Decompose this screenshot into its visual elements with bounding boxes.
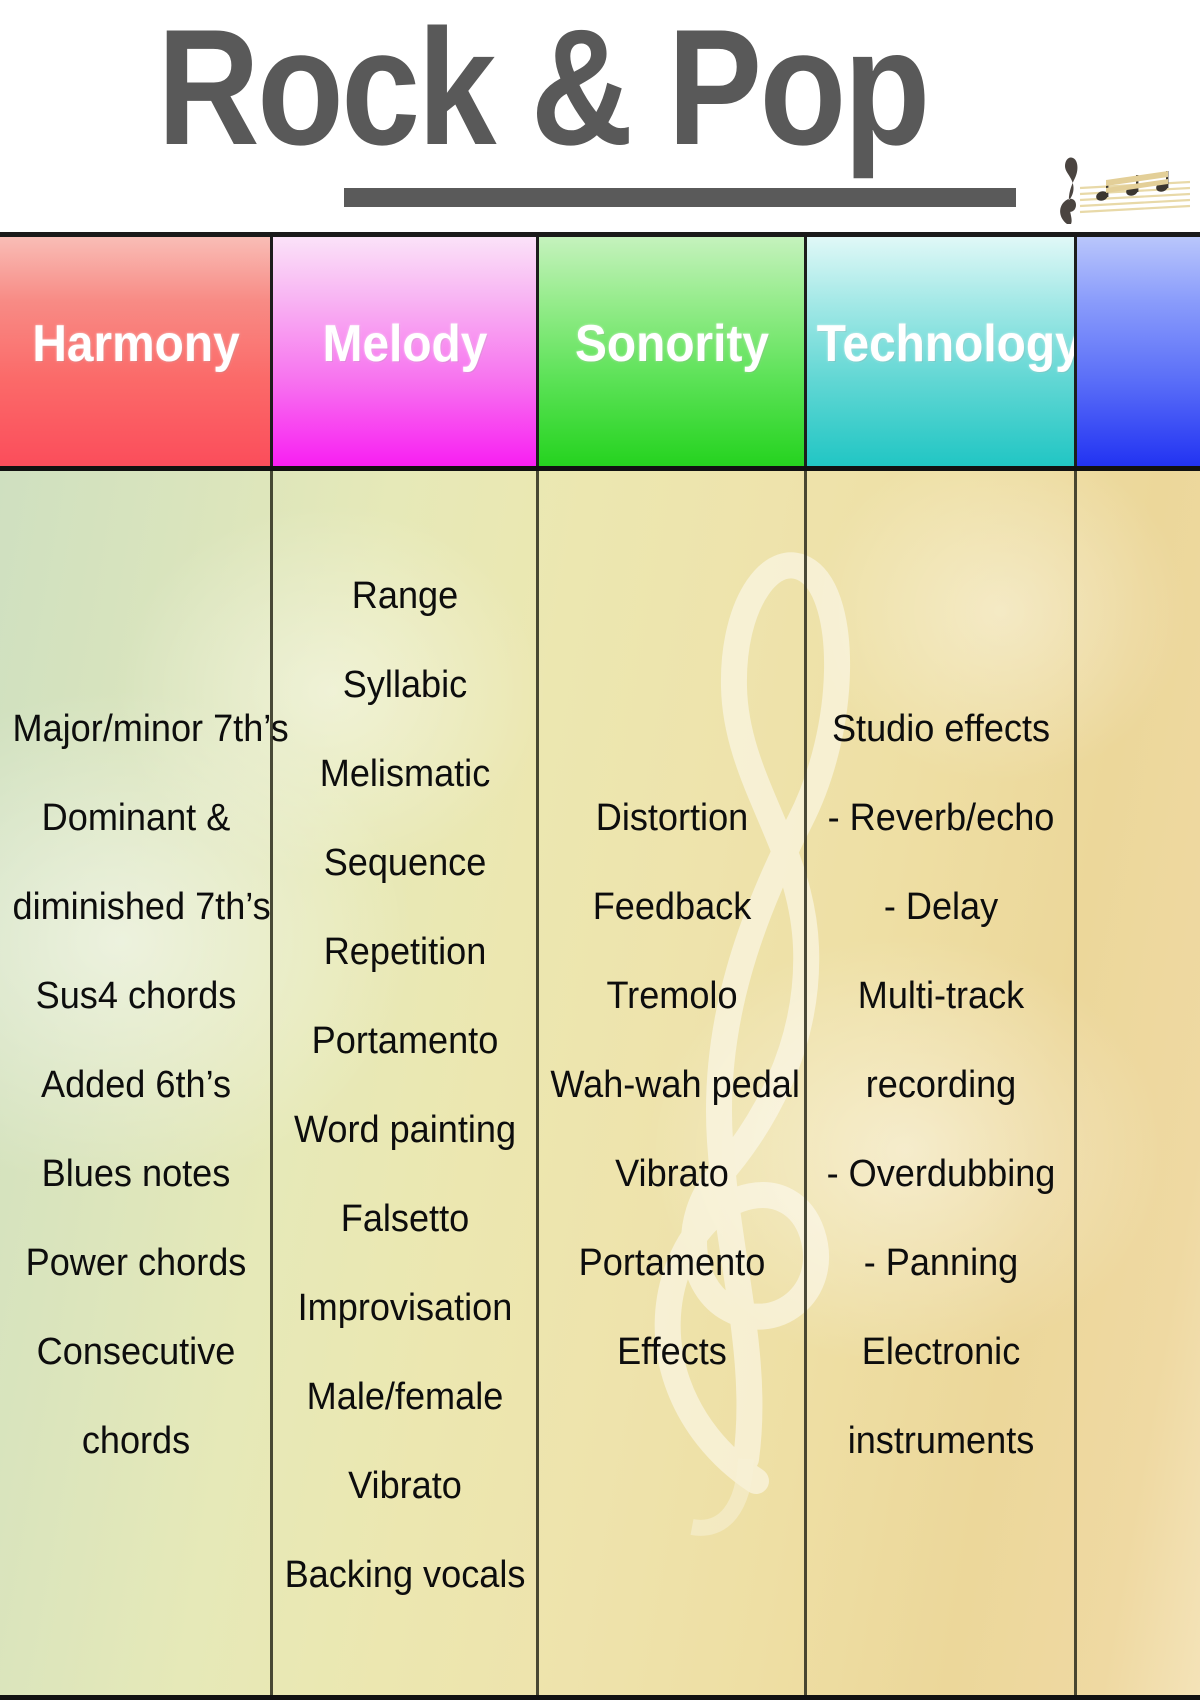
header-separator [270,237,273,466]
features-table: Harmony Melody Sonority Technology [0,232,1200,1700]
header-separator [536,237,539,466]
column-body-technology: Studio effects - Reverb/echo - Delay Mul… [806,471,1076,1700]
list-item: Portamento [284,997,525,1086]
column-header-fifth[interactable] [1076,237,1200,466]
list-item: - Delay [818,863,1063,952]
body-separator [1074,471,1077,1700]
column-header-harmony[interactable]: Harmony [0,237,272,466]
list-item: Wah-wah pedal [550,1041,793,1130]
column-body-fifth [1076,471,1200,1700]
list-item: Power chords [13,1219,260,1308]
list-item: Feedback [550,863,793,952]
table-top-border [0,232,1200,237]
list-item: Tremolo [550,952,793,1041]
body-separator [270,471,273,1700]
table-body-row: Major/minor 7th’s Dominant & diminished … [0,471,1200,1700]
list-item: diminished 7th’s [13,863,260,952]
list-item: Range [284,552,525,641]
column-header-melody-label: Melody [283,315,528,373]
list-item: Word painting [284,1086,525,1175]
column-body-melody: Range Syllabic Melismatic Sequence Repet… [272,471,538,1700]
header-separator [804,237,807,466]
list-item: Blues notes [13,1130,260,1219]
column-header-technology[interactable]: Technology [806,237,1076,466]
list-item: Sus4 chords [13,952,260,1041]
list-item: Melismatic [284,730,525,819]
header-bottom-border [0,466,1200,471]
list-item: Multi-track [818,952,1063,1041]
music-staff-icon [1040,152,1190,230]
list-item: - Panning [818,1219,1063,1308]
column-header-sonority-label: Sonority [549,315,796,373]
column-header-melody[interactable]: Melody [272,237,538,466]
title-underline [344,188,1016,207]
list-item: Distortion [550,774,793,863]
title-area: Rock & Pop [0,0,1200,232]
table-header-row: Harmony Melody Sonority Technology [0,237,1200,466]
list-item: instruments [818,1397,1063,1486]
column-body-sonority: Distortion Feedback Tremolo Wah-wah peda… [538,471,806,1700]
list-item: Vibrato [284,1442,525,1531]
body-separator [804,471,807,1700]
list-item: Syllabic [284,641,525,730]
list-item: chords [13,1397,260,1486]
list-item: Dominant & [13,774,260,863]
list-item: Improvisation [284,1264,525,1353]
list-item: Consecutive [13,1308,260,1397]
list-item: Effects [550,1308,793,1397]
page-title: Rock & Pop [76,2,1009,172]
list-item: Backing vocals [284,1531,525,1620]
header-separator [1074,237,1077,466]
list-item: - Reverb/echo [818,774,1063,863]
list-item: Male/female [284,1353,525,1442]
list-item: Major/minor 7th’s [13,685,260,774]
list-item: Electronic [818,1308,1063,1397]
list-item: Repetition [284,908,525,997]
list-item: recording [818,1041,1063,1130]
body-separator [536,471,539,1700]
table-bottom-border [0,1695,1200,1700]
column-header-harmony-label: Harmony [11,315,261,373]
column-header-sonority[interactable]: Sonority [538,237,806,466]
list-item: - Overdubbing [818,1130,1063,1219]
column-body-harmony: Major/minor 7th’s Dominant & diminished … [0,471,272,1700]
list-item: Falsetto [284,1175,525,1264]
list-item: Sequence [284,819,525,908]
list-item: Vibrato [550,1130,793,1219]
list-item: Portamento [550,1219,793,1308]
list-item: Studio effects [818,685,1063,774]
column-header-technology-label: Technology [817,315,1065,373]
list-item: Added 6th’s [13,1041,260,1130]
